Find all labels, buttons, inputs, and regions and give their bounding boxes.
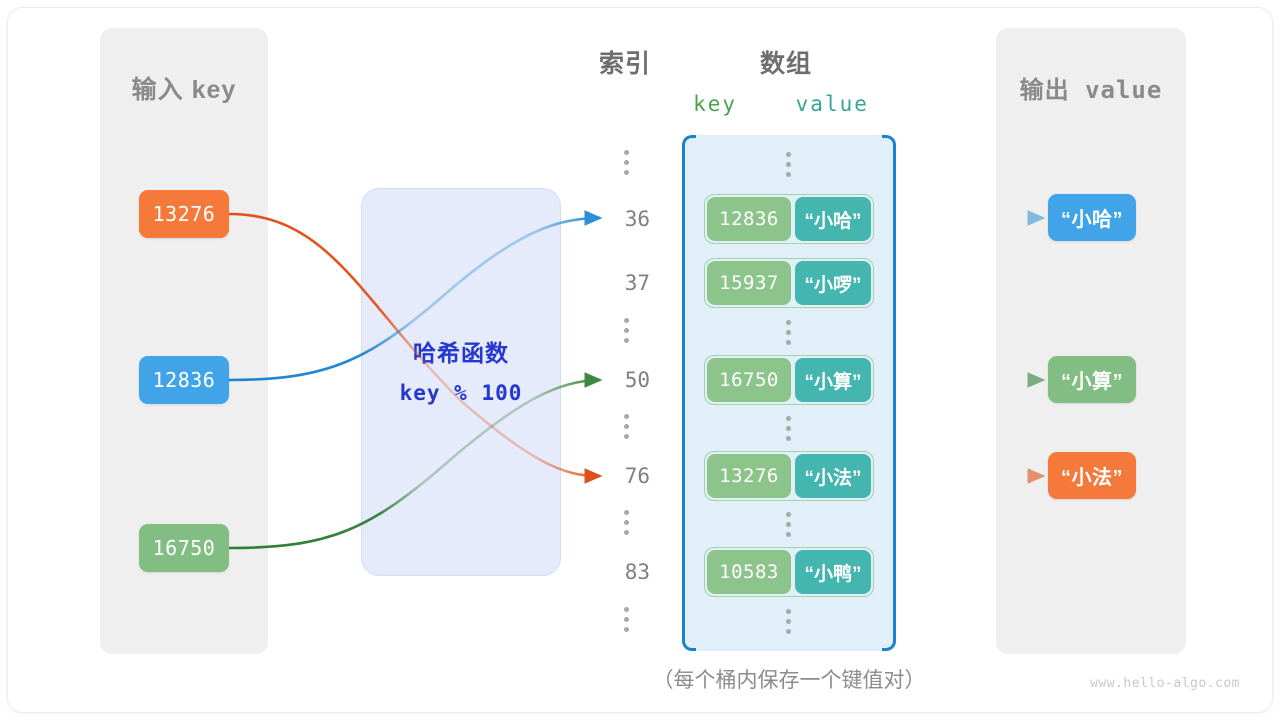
output-panel-title: 输出 value [996,70,1186,105]
bucket-key: 16750 [707,358,791,402]
bucket-key: 12836 [707,197,791,241]
bucket-row[interactable]: 15937 “小啰” [704,258,874,308]
hash-function-name: 哈希函数 [362,334,560,368]
index-label-37: 37 [578,271,650,295]
index-label-50: 50 [578,368,650,392]
bucket-row[interactable]: 12836 “小哈” [704,194,874,244]
input-key-12836[interactable]: 12836 [139,356,229,404]
array-ellipsis-icon [786,609,791,634]
output-value-panel: 输出 value [996,28,1186,654]
bucket-value: “小啰” [795,261,871,305]
key-value-header: key value [664,92,898,116]
index-label-36: 36 [578,207,650,231]
hash-function-box: 哈希函数 key % 100 [361,188,561,576]
diagram-caption: （每个桶内保存一个键值对） [589,664,989,694]
output-value-xiaosuan[interactable]: “小算” [1048,356,1136,403]
array-ellipsis-icon [786,416,791,441]
input-panel-title: 输入 key [100,70,268,106]
hash-function-expression: key % 100 [362,381,560,405]
output-value-xiaoha[interactable]: “小哈” [1048,194,1136,241]
value-header-label: value [796,92,869,116]
bucket-row[interactable]: 10583 “小鸭” [704,547,874,597]
watermark: www.hello-algo.com [1040,676,1240,691]
bucket-key: 13276 [707,454,791,498]
index-ellipsis-icon [624,150,629,175]
array-column-caption: 数组 [726,44,846,80]
array-ellipsis-icon [786,320,791,345]
bucket-value: “小算” [795,358,871,402]
input-key-13276[interactable]: 13276 [139,190,229,238]
index-ellipsis-icon [624,607,629,632]
index-label-76: 76 [578,464,650,488]
index-label-83: 83 [578,560,650,584]
index-ellipsis-icon [624,318,629,343]
bucket-value: “小法” [795,454,871,498]
bucket-row[interactable]: 16750 “小算” [704,355,874,405]
index-column-caption: 索引 [578,44,672,80]
bucket-key: 15937 [707,261,791,305]
key-header-label: key [693,92,737,116]
bucket-value: “小鸭” [795,550,871,594]
array-ellipsis-icon [786,512,791,537]
bucket-row[interactable]: 13276 “小法” [704,451,874,501]
input-key-16750[interactable]: 16750 [139,524,229,572]
diagram-stage: 输入 key 输出 value 13276 12836 16750 哈希函数 k… [0,0,1280,720]
index-ellipsis-icon [624,510,629,535]
index-ellipsis-icon [624,414,629,439]
output-value-xiaofa[interactable]: “小法” [1048,452,1136,499]
array-ellipsis-icon [786,152,791,177]
bucket-key: 10583 [707,550,791,594]
bucket-value: “小哈” [795,197,871,241]
